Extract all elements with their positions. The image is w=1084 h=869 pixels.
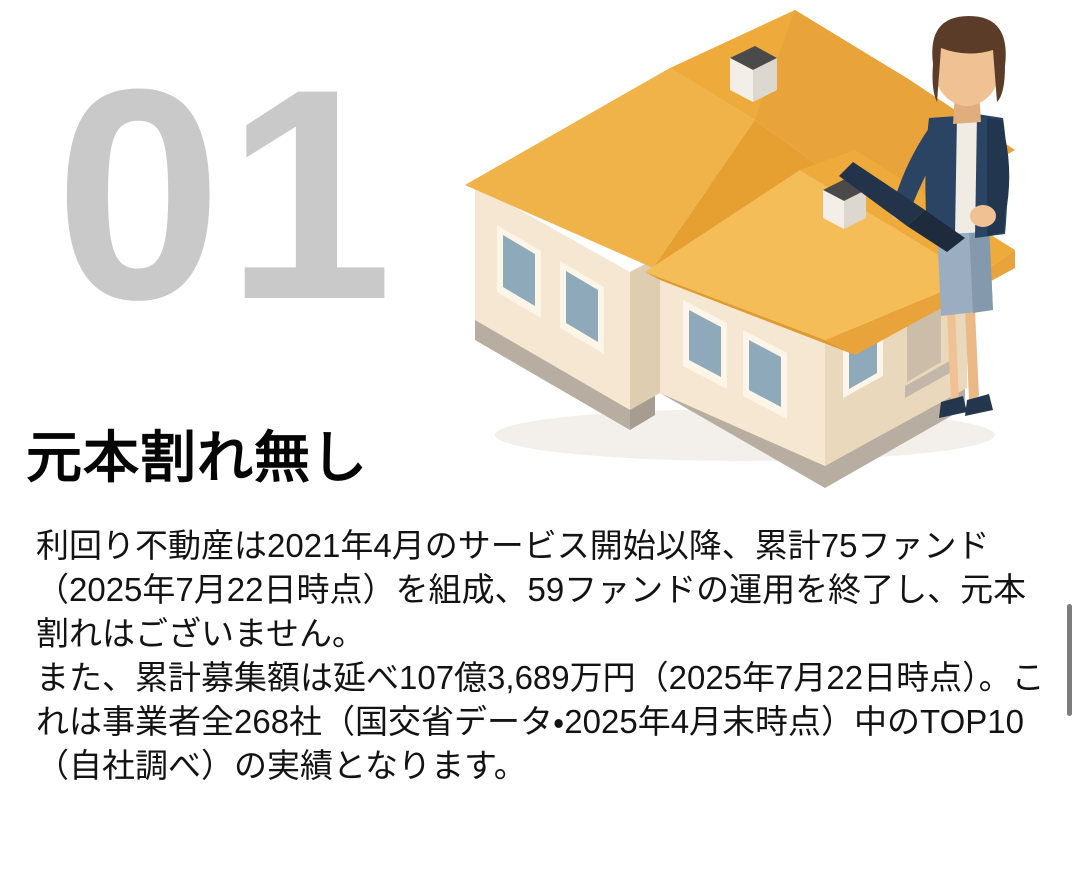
page-root: 01 — [0, 0, 1084, 869]
paragraph-2: また、累計募集額は延べ107億3,689万円（2025年7月22日時点）。これは… — [36, 656, 1046, 788]
paragraph-1: 利回り不動産は2021年4月のサービス開始以降、累計75ファンド（2025年7月… — [36, 524, 1046, 656]
isometric-house-illustration — [455, 10, 1055, 490]
hand-right — [970, 205, 996, 227]
scrollbar-thumb[interactable] — [1067, 604, 1072, 716]
left-wing-side-wall — [630, 256, 660, 410]
skirt-shadow — [969, 224, 993, 313]
page-title: 元本割れ無し — [26, 424, 368, 492]
leg-right — [965, 310, 979, 400]
section-number: 01 — [55, 44, 397, 344]
body-copy: 利回り不動産は2021年4月のサービス開始以降、累計75ファンド（2025年7月… — [36, 524, 1046, 788]
hero-illustration — [455, 10, 1055, 490]
scrollbar-track[interactable] — [1064, 0, 1076, 869]
